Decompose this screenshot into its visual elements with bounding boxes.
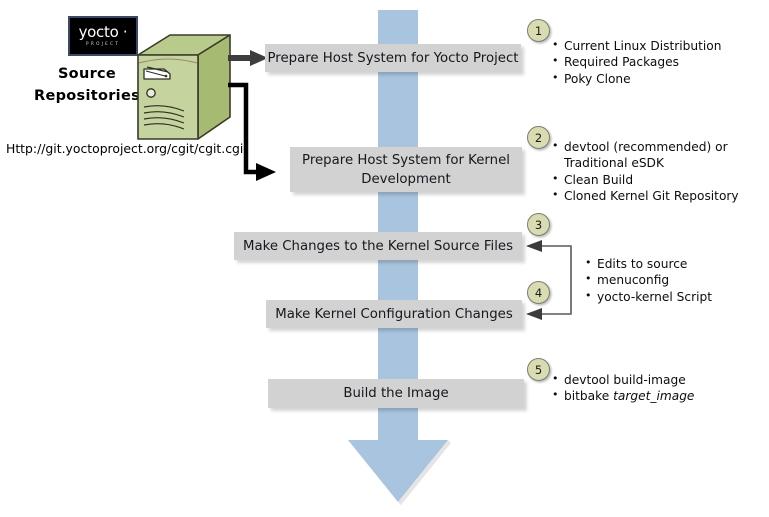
note-command: bitbake <box>564 389 613 403</box>
process-box-step-1[interactable]: Prepare Host System for Yocto Project <box>265 44 521 72</box>
note-item: Current Linux Distribution <box>552 38 721 54</box>
connector-server-to-step1 <box>228 50 268 66</box>
step-number-badge-3: 3 <box>527 213 550 236</box>
note-item: devtool build-image <box>552 372 694 388</box>
note-item: yocto-kernel Script <box>585 289 712 305</box>
process-box-step-5[interactable]: Build the Image <box>268 379 524 408</box>
note-item: Clean Build <box>552 172 739 188</box>
step-number-badge-5: 5 <box>527 358 550 381</box>
note-item: devtool (recommended) or <box>552 139 739 155</box>
diagram-canvas: yocto · PROJECT Source Repositories Http… <box>0 0 769 517</box>
note-item: Required Packages <box>552 54 721 70</box>
notes-step-5: devtool build-image bitbake target_image <box>552 372 694 405</box>
step-number-badge-2: 2 <box>527 126 550 149</box>
process-box-step-3[interactable]: Make Changes to the Kernel Source Files <box>234 232 522 260</box>
note-item: Edits to source <box>585 256 712 272</box>
process-box-step-2[interactable]: Prepare Host System for Kernel Developme… <box>290 147 522 192</box>
note-item: menuconfig <box>585 272 712 288</box>
process-box-step-4[interactable]: Make Kernel Configuration Changes <box>266 300 522 328</box>
step-number-badge-1: 1 <box>527 19 550 42</box>
note-parameter: target_image <box>613 389 694 403</box>
connector-steps-3-4-bracket <box>526 240 571 320</box>
note-item: Poky Clone <box>552 71 721 87</box>
connector-server-to-step2 <box>228 85 276 181</box>
note-item: Cloned Kernel Git Repository <box>552 188 739 204</box>
note-item-continuation: Traditional eSDK <box>552 155 739 171</box>
notes-steps-3-and-4: Edits to source menuconfig yocto-kernel … <box>585 256 712 305</box>
notes-step-2: devtool (recommended) or Traditional eSD… <box>552 139 739 205</box>
step-number-badge-4: 4 <box>527 281 550 304</box>
notes-step-1: Current Linux Distribution Required Pack… <box>552 38 721 87</box>
note-item: bitbake target_image <box>552 388 694 404</box>
